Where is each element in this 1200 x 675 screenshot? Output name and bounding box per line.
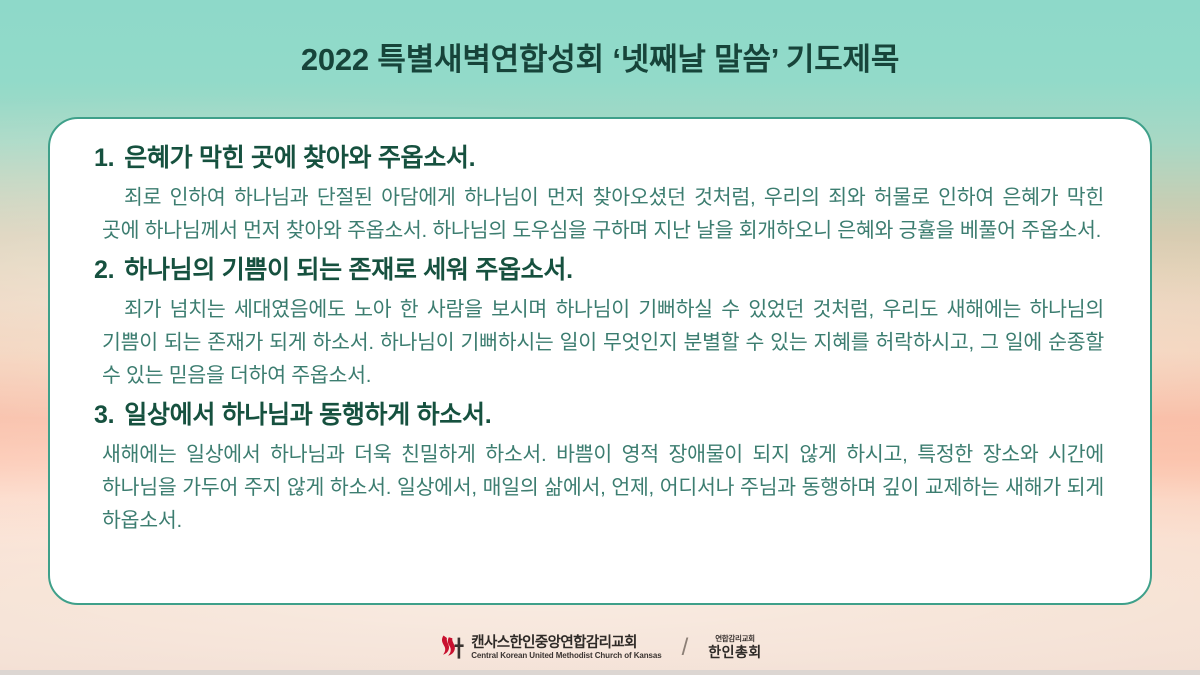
slide-canvas: 2022 특별새벽연합성회 ‘넷째날 말씀’ 기도제목 1. 은혜가 막힌 곳에… bbox=[0, 0, 1200, 675]
church-logo: 캔사스한인중앙연합감리교회 Central Korean United Meth… bbox=[438, 633, 661, 663]
church-name-block: 캔사스한인중앙연합감리교회 Central Korean United Meth… bbox=[471, 636, 661, 661]
section-1-body: 죄로 인하여 하나님과 단절된 아담에게 하나님이 먼저 찾아오셨던 것처럼, … bbox=[80, 177, 1120, 247]
prayer-section-1: 1. 은혜가 막힌 곳에 찾아와 주옵소서. 죄로 인하여 하나님과 단절된 아… bbox=[80, 139, 1120, 247]
logo-divider: / bbox=[682, 634, 689, 662]
prayer-section-3: 3. 일상에서 하나님과 동행하게 하소서. 새해에는 일상에서 하나님과 더욱… bbox=[80, 396, 1120, 537]
section-2-number: 2. bbox=[94, 251, 114, 289]
section-3-number: 3. bbox=[94, 396, 114, 434]
section-2-heading-text: 하나님의 기쁨이 되는 존재로 세워 주옵소서. bbox=[124, 251, 572, 289]
section-3-heading-text: 일상에서 하나님과 동행하게 하소서. bbox=[124, 396, 491, 434]
prayer-section-2: 2. 하나님의 기쁨이 되는 존재로 세워 주옵소서. 죄가 넘치는 세대였음에… bbox=[80, 251, 1120, 392]
section-3-body: 새해에는 일상에서 하나님과 더욱 친밀하게 하소서. 바쁨이 영적 장애물이 … bbox=[80, 434, 1120, 537]
church-name-english: Central Korean United Methodist Church o… bbox=[471, 652, 661, 660]
association-logo: 연합감리교회 한인총회 bbox=[708, 635, 762, 661]
prayer-topics-card: 1. 은혜가 막힌 곳에 찾아와 주옵소서. 죄로 인하여 하나님과 단절된 아… bbox=[48, 117, 1152, 605]
section-1-number: 1. bbox=[94, 139, 114, 177]
association-subtitle: 연합감리교회 bbox=[708, 635, 762, 643]
footer-logos: 캔사스한인중앙연합감리교회 Central Korean United Meth… bbox=[0, 633, 1200, 663]
section-2-heading: 2. 하나님의 기쁨이 되는 존재로 세워 주옵소서. bbox=[80, 251, 1120, 289]
association-name: 한인총회 bbox=[708, 645, 762, 660]
page-title: 2022 특별새벽연합성회 ‘넷째날 말씀’ 기도제목 bbox=[0, 40, 1200, 80]
section-3-heading: 3. 일상에서 하나님과 동행하게 하소서. bbox=[80, 396, 1120, 434]
section-1-heading: 1. 은혜가 막힌 곳에 찾아와 주옵소서. bbox=[80, 139, 1120, 177]
bottom-strip bbox=[0, 670, 1200, 675]
section-2-body: 죄가 넘치는 세대였음에도 노아 한 사람을 보시며 하나님이 기뻐하실 수 있… bbox=[80, 289, 1120, 392]
section-1-heading-text: 은혜가 막힌 곳에 찾아와 주옵소서. bbox=[124, 139, 475, 177]
cross-and-flame-icon bbox=[438, 633, 464, 663]
church-name-korean: 캔사스한인중앙연합감리교회 bbox=[471, 636, 661, 651]
